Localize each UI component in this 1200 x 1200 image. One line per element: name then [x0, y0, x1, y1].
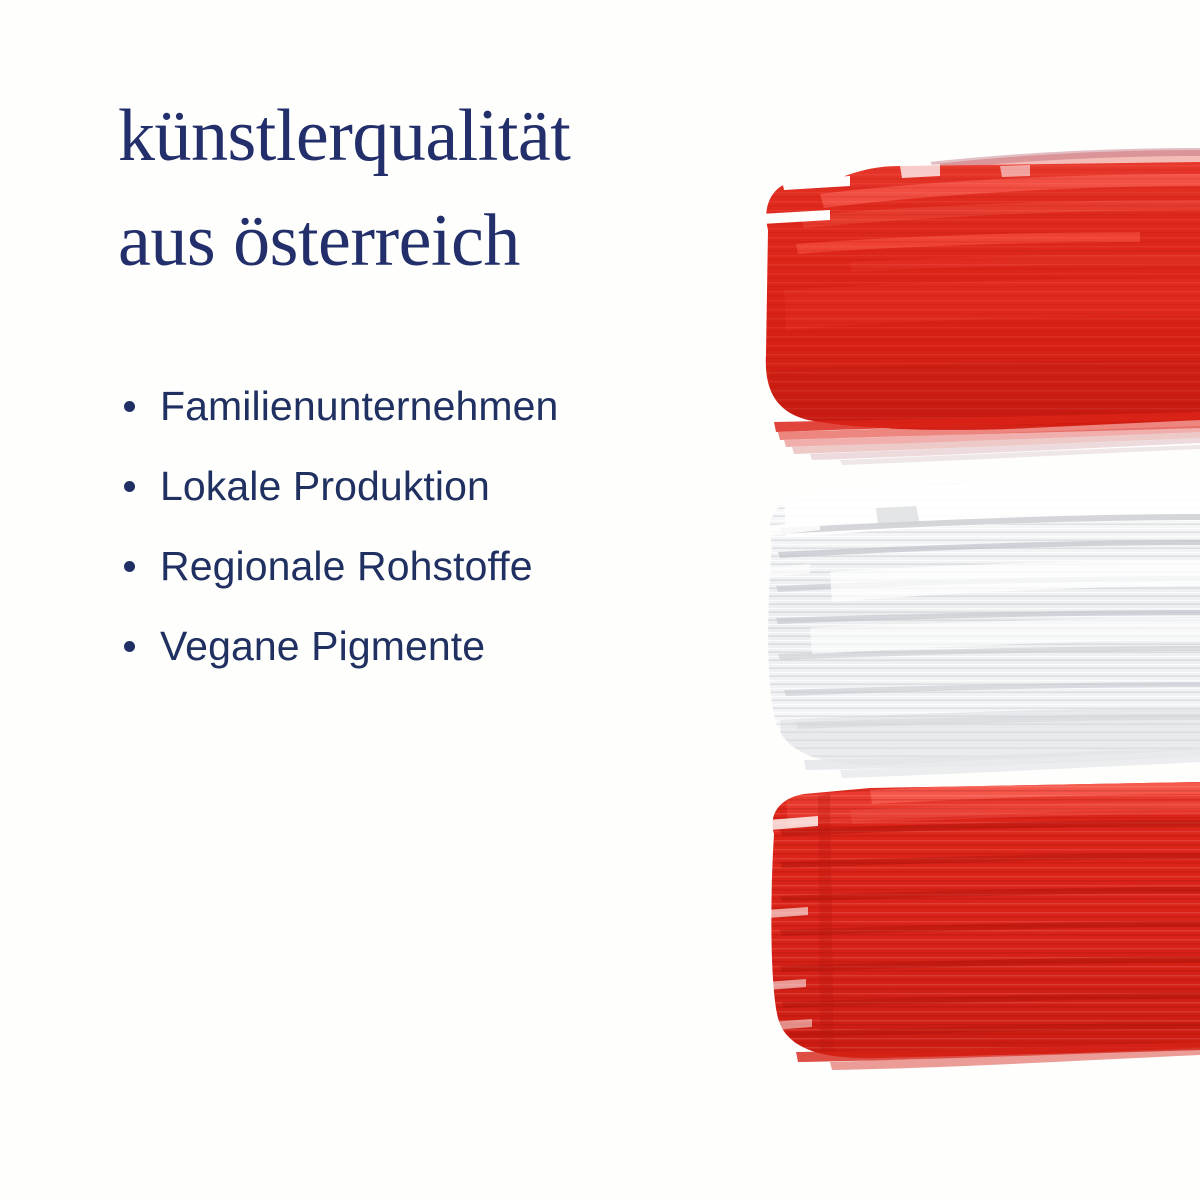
feature-list: Familienunternehmen Lokale Produktion Re…	[118, 366, 738, 686]
bullet-dot-icon	[124, 481, 135, 492]
page-title: künstlerqualität aus österreich	[118, 84, 718, 294]
middle-white-stroke	[700, 470, 1200, 778]
top-red-stroke	[700, 148, 1200, 465]
bullet-dot-icon	[124, 641, 135, 652]
list-item-label: Regionale Rohstoffe	[160, 546, 533, 587]
bullet-dot-icon	[124, 401, 135, 412]
list-item: Vegane Pigmente	[118, 606, 738, 686]
paint-strokes-svg	[700, 120, 1200, 1100]
bullet-dot-icon	[124, 561, 135, 572]
list-item: Lokale Produktion	[118, 446, 738, 526]
paint-stroke-artwork	[700, 120, 1200, 1100]
list-item-label: Familienunternehmen	[160, 386, 558, 427]
text-column: künstlerqualität aus österreich	[118, 84, 718, 294]
list-item: Regionale Rohstoffe	[118, 526, 738, 606]
list-item: Familienunternehmen	[118, 366, 738, 446]
list-item-label: Lokale Produktion	[160, 466, 490, 507]
bottom-red-stroke	[700, 780, 1200, 1070]
promo-graphic-canvas: künstlerqualität aus österreich Familien…	[0, 0, 1200, 1200]
list-item-label: Vegane Pigmente	[160, 626, 485, 667]
